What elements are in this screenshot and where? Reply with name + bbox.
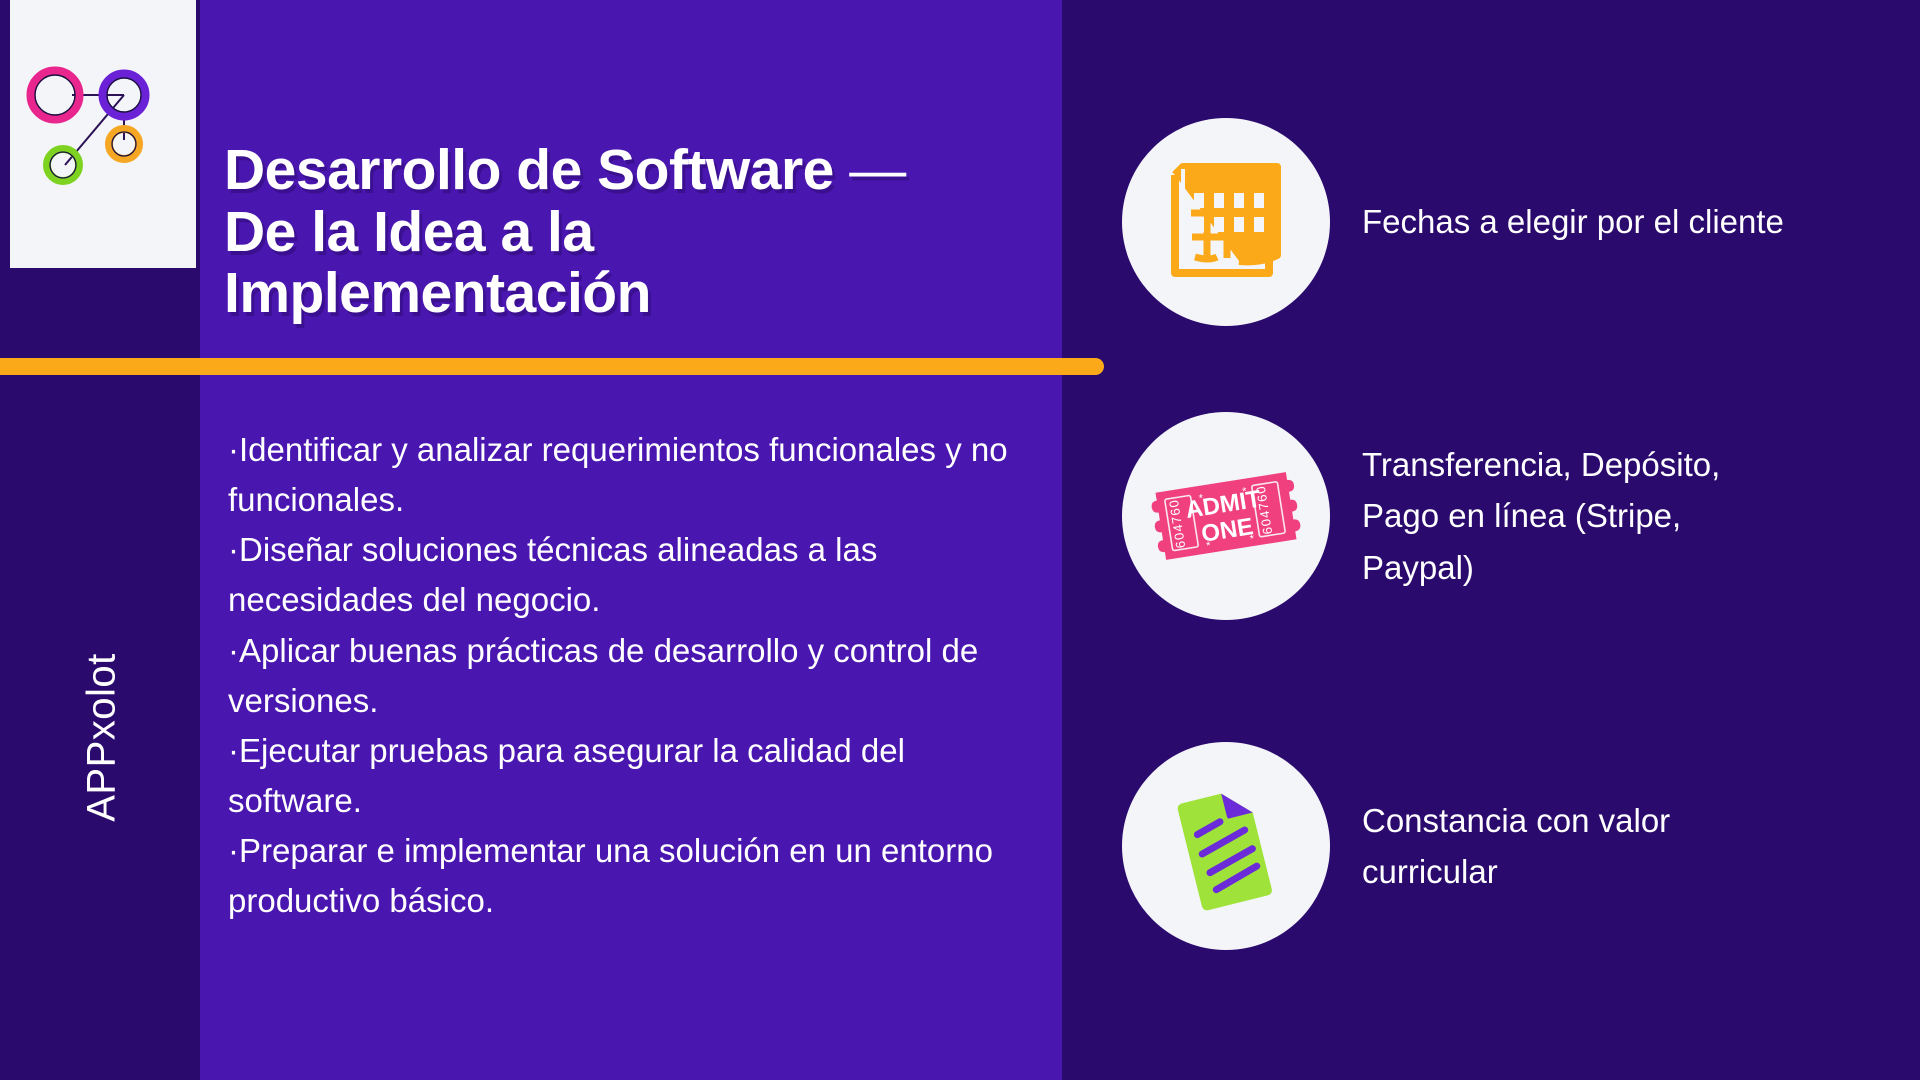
list-item: Identificar y analizar requerimientos fu… [228, 425, 1038, 525]
page-title: Desarrollo de Software — De la Idea a la… [224, 140, 1014, 325]
certificate-document-icon [1156, 776, 1296, 916]
feature-label: Transferencia, Depósito, Pago en línea (… [1362, 439, 1802, 592]
title-line-1: Desarrollo de Software [224, 138, 834, 202]
icon-bubble [1122, 742, 1330, 950]
calendar-icon [1161, 157, 1291, 287]
feature-item-certificate: Constancia con valor curricular [1122, 742, 1802, 950]
network-nodes-logo-icon [10, 0, 196, 268]
title-dash: — [849, 138, 906, 202]
logo-card [10, 0, 196, 268]
brand-name-vertical: APPxolot [80, 618, 125, 858]
orange-divider [0, 358, 1104, 375]
bullet-list: Identificar y analizar requerimientos fu… [228, 425, 1038, 927]
list-item: Aplicar buenas prácticas de desarrollo y… [228, 626, 1038, 726]
list-item: Preparar e implementar una solución en u… [228, 826, 1038, 926]
title-line-3: Implementación [224, 261, 651, 325]
slide-canvas: APPxolot Desarrollo de Software — De la … [0, 0, 1920, 1080]
feature-label: Constancia con valor curricular [1362, 795, 1802, 897]
ticket-icon: 604760 604760 ADMIT ONE ** ** [1146, 456, 1306, 576]
feature-item-payment: 604760 604760 ADMIT ONE ** ** Transferen… [1122, 412, 1802, 620]
icon-bubble [1122, 118, 1330, 326]
feature-column: Fechas a elegir por el cliente 604760 60… [1122, 0, 1920, 1080]
list-item: Ejecutar pruebas para asegurar la calida… [228, 726, 1038, 826]
icon-bubble: 604760 604760 ADMIT ONE ** ** [1122, 412, 1330, 620]
feature-item-dates: Fechas a elegir por el cliente [1122, 118, 1784, 326]
title-line-2: De la Idea a la [224, 200, 594, 264]
list-item: Diseñar soluciones técnicas alineadas a … [228, 525, 1038, 625]
feature-label: Fechas a elegir por el cliente [1362, 196, 1784, 247]
